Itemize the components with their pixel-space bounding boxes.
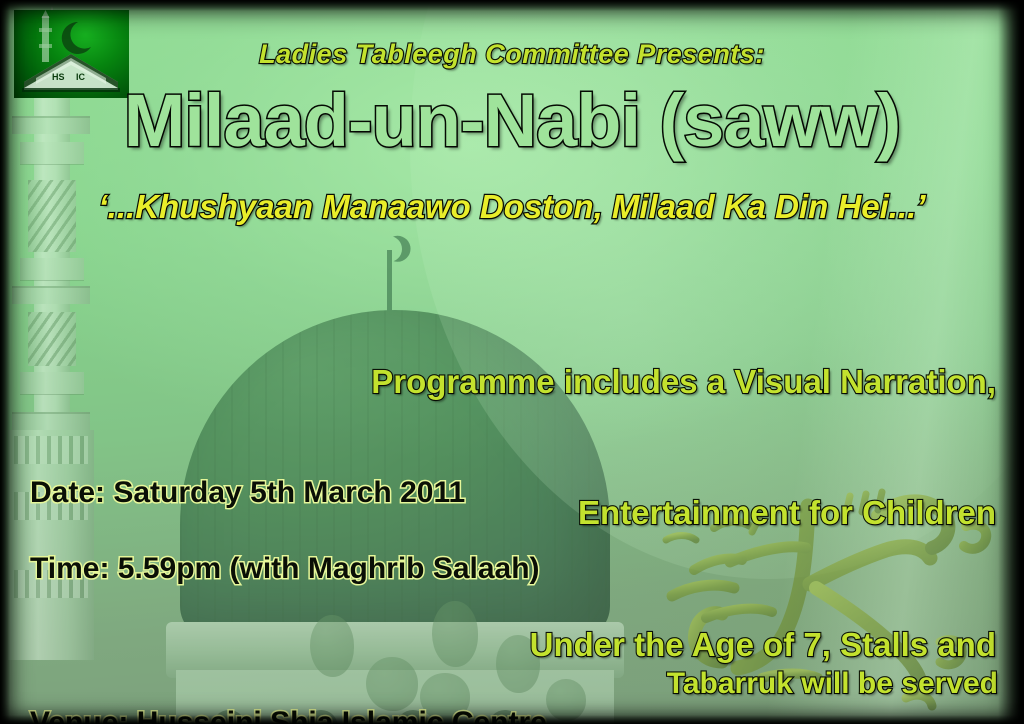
event-venue: Venue: Husseini Shia Islamic Centre, Woo… (30, 625, 540, 724)
event-time: Time: 5.59pm (with Maghrib Salaah) (30, 550, 540, 588)
svg-text:HS: HS (52, 72, 65, 82)
event-date: Date: Saturday 5th March 2011 (30, 474, 465, 512)
tabarruk-note: Tabarruk will be served (667, 668, 998, 700)
svg-text:IC: IC (76, 72, 86, 82)
venue-line-1: Venue: Husseini Shia Islamic Centre, (30, 703, 540, 724)
milaad-event-poster: HS IC Ladies Tableegh Committee Presents… (0, 0, 1024, 724)
page-title: Milaad-un-Nabi (saww) (0, 82, 1024, 160)
presenter-line: Ladies Tableegh Committee Presents: (0, 40, 1024, 68)
tagline: ‘...Khushyaan Manaawo Doston, Milaad Ka … (0, 190, 1024, 225)
programme-line-1: Programme includes a Visual Narration, (296, 360, 996, 404)
